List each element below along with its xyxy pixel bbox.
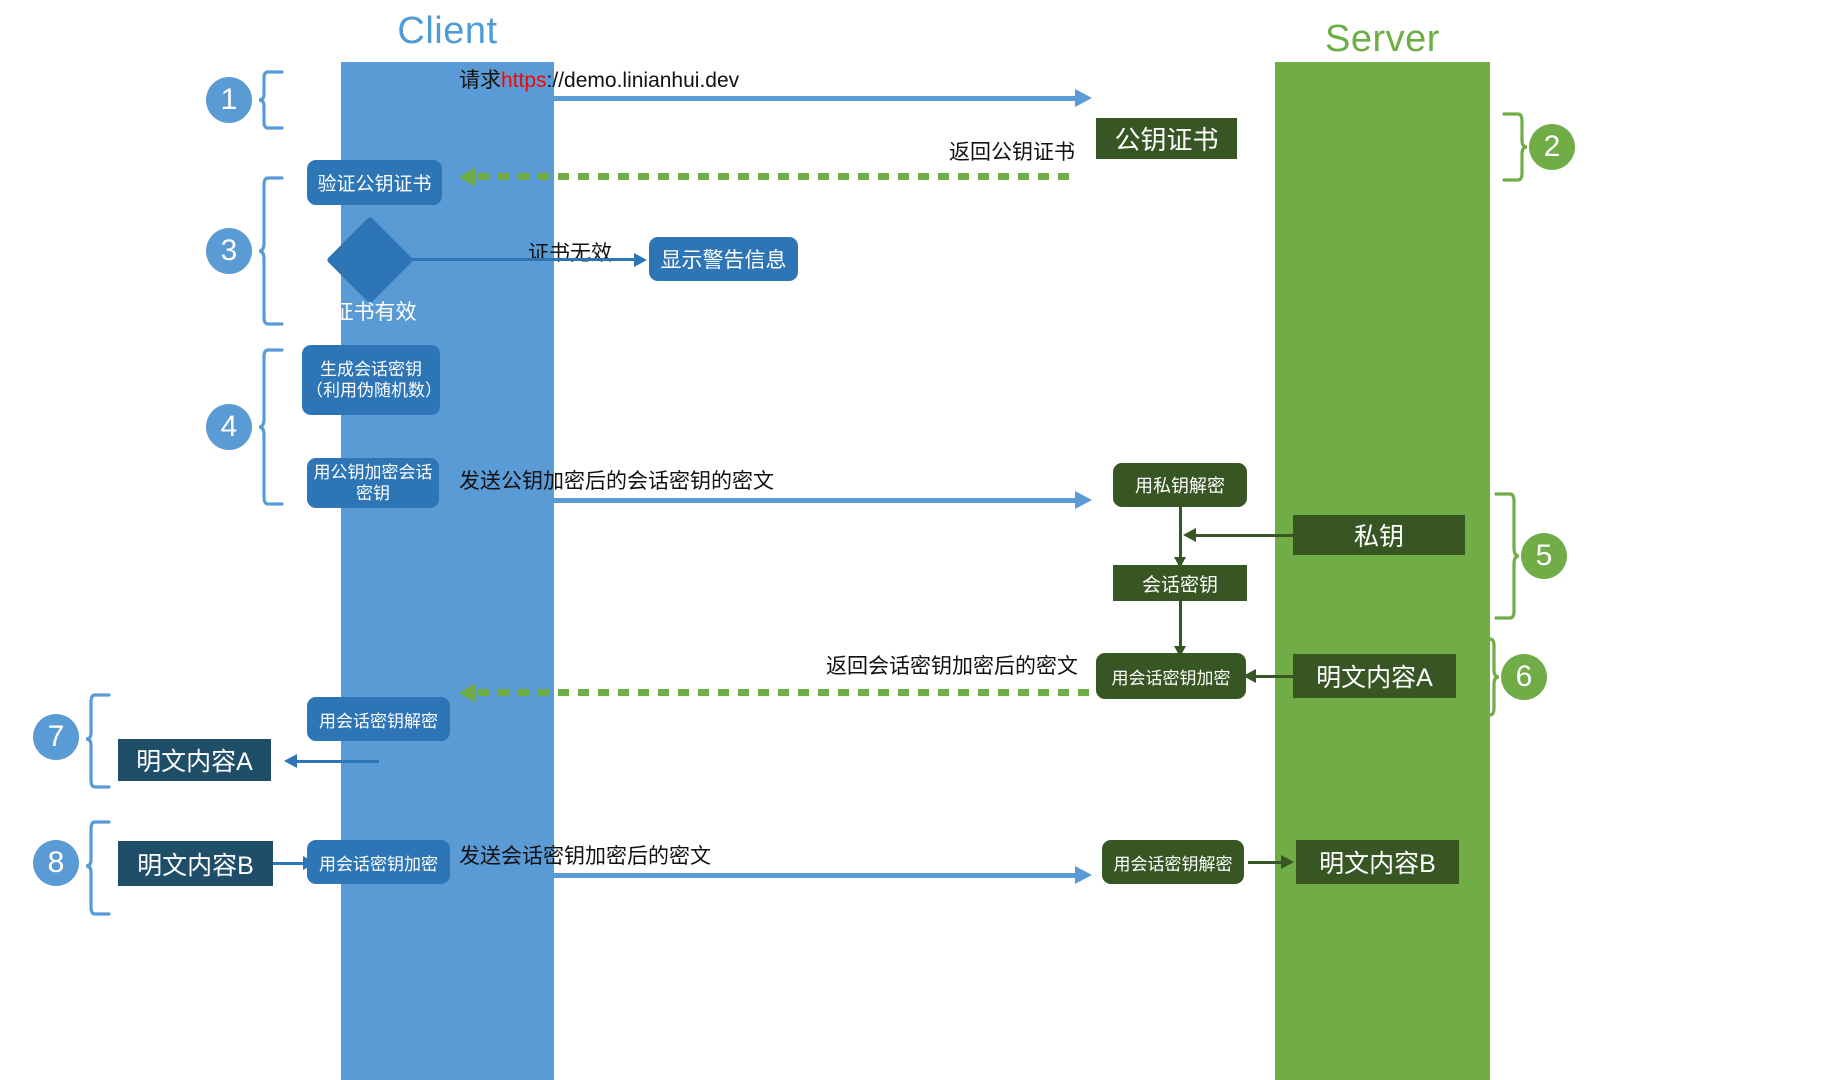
step-badge-4: 4: [206, 404, 252, 450]
client-decrypt-to-plaintext-arrow-head: [284, 754, 297, 768]
client-encrypt-with-public-key-box: 用公钥加密会话密钥: [307, 458, 439, 508]
request-arrow-head: [1075, 89, 1092, 107]
step-badge-1: 1: [206, 77, 252, 123]
step-bracket-7: [85, 693, 111, 789]
step-badge-8: 8: [33, 840, 79, 886]
client-plaintext-a-box: 明文内容A: [118, 739, 271, 781]
send-session-encrypted-arrow-head: [1075, 866, 1092, 884]
client-encrypt-with-session-key-box: 用会话密钥加密: [307, 840, 450, 884]
return-cert-label: 返回公钥证书: [949, 136, 1075, 166]
send-session-encrypted-line: [456, 873, 1075, 878]
generate-to-encrypt-line: [373, 415, 376, 453]
return-cert-arrow-head: [459, 167, 476, 187]
server-column-title: Server: [1275, 20, 1490, 58]
server-plaintext-a-box: 明文内容A: [1293, 654, 1456, 698]
diagram-canvas: Client Server 1 请求https://demo.linianhui…: [0, 0, 1834, 1080]
cert-invalid-arrow-head: [634, 253, 647, 267]
plaintext-a-to-encrypt-arrow-head: [1243, 669, 1256, 683]
server-decrypt-to-plaintext-b-line: [1248, 861, 1284, 864]
private-key-to-decrypt-arrow-head: [1183, 528, 1196, 542]
private-key-to-decrypt-line: [1196, 534, 1296, 537]
server-plaintext-b-box: 明文内容B: [1296, 840, 1459, 884]
server-private-key-box: 私钥: [1293, 515, 1465, 555]
return-session-encrypted-label: 返回会话密钥加密后的密文: [826, 650, 1078, 680]
return-session-encrypted-dotted-line: [478, 689, 1096, 696]
request-arrow-line: [456, 96, 1075, 101]
send-encrypted-session-key-arrow-head: [1075, 491, 1092, 509]
cert-valid-to-generate-line: [373, 315, 376, 340]
server-public-key-cert-box: 公钥证书: [1096, 118, 1237, 159]
step-badge-6: 6: [1501, 654, 1547, 700]
step-bracket-5: [1494, 492, 1520, 620]
server-encrypt-with-session-key-box: 用会话密钥加密: [1096, 653, 1246, 699]
server-column: [1275, 62, 1490, 1080]
request-url-label: 请求https://demo.linianhui.dev: [459, 64, 739, 94]
step-bracket-6: [1476, 637, 1500, 717]
step-badge-2: 2: [1529, 124, 1575, 170]
send-encrypted-session-key-line: [456, 498, 1075, 503]
plaintext-a-to-encrypt-line: [1253, 675, 1298, 678]
server-decrypt-with-session-key-box: 用会话密钥解密: [1102, 840, 1244, 884]
step-bracket-1: [258, 70, 284, 130]
client-plaintext-b-box: 明文内容B: [118, 841, 273, 886]
step-bracket-2: [1502, 112, 1528, 182]
cert-invalid-line: [400, 258, 634, 261]
step-bracket-8: [85, 820, 111, 916]
send-encrypted-session-key-label: 发送公钥加密后的会话密钥的密文: [459, 465, 774, 495]
server-session-key-box: 会话密钥: [1113, 565, 1247, 601]
client-generate-session-key-box: 生成会话密钥（利用伪随机数）: [302, 345, 440, 415]
step-bracket-4: [258, 348, 284, 506]
client-show-warning-box: 显示警告信息: [649, 237, 798, 281]
client-decrypt-to-plaintext-line: [297, 760, 379, 763]
client-column-title: Client: [341, 12, 554, 50]
return-cert-dotted-line: [478, 173, 1078, 180]
server-decrypt-with-private-key-box: 用私钥解密: [1113, 463, 1247, 507]
return-session-encrypted-arrow-head: [459, 683, 476, 703]
plaintext-b-to-encrypt-line: [273, 862, 306, 865]
client-verify-cert-box: 验证公钥证书: [307, 160, 442, 205]
step-badge-5: 5: [1521, 533, 1567, 579]
step-bracket-3: [258, 176, 284, 326]
step-badge-7: 7: [33, 714, 79, 760]
cert-invalid-label: 证书无效: [528, 237, 612, 267]
client-decrypt-with-session-key-box: 用会话密钥解密: [307, 697, 450, 741]
send-session-encrypted-label: 发送会话密钥加密后的密文: [459, 840, 711, 870]
step-badge-3: 3: [206, 228, 252, 274]
server-decrypt-to-plaintext-b-arrow-head: [1281, 855, 1294, 869]
